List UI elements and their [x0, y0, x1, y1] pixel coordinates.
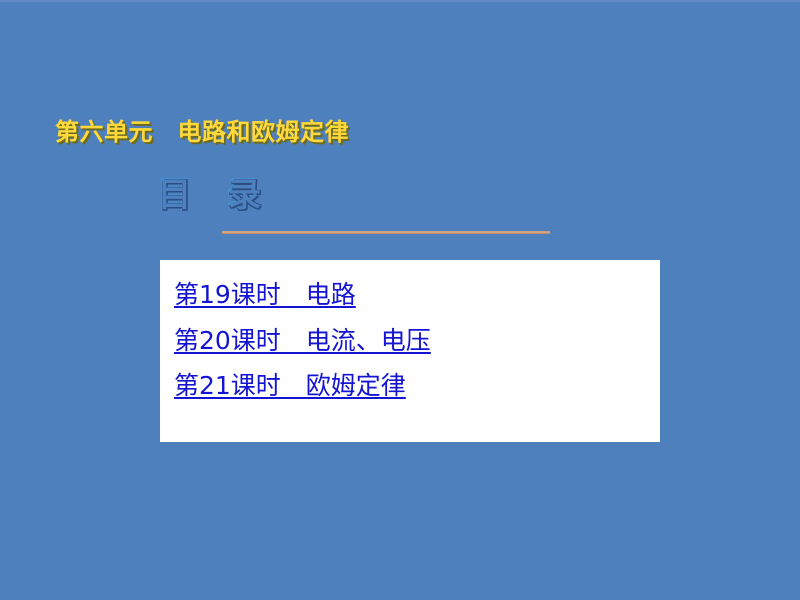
- table-of-contents-panel: 第19课时 电路 第20课时 电流、电压 第21课时 欧姆定律: [160, 260, 660, 442]
- heading-divider-rule: [222, 231, 550, 234]
- list-item: 第19课时 电路: [174, 282, 660, 309]
- table-of-contents-list: 第19课时 电路 第20课时 电流、电压 第21课时 欧姆定律: [174, 282, 660, 400]
- table-of-contents-heading: 目 录: [158, 168, 263, 216]
- list-item: 第20课时 电流、电压: [174, 328, 660, 355]
- presentation-slide: 第六单元 电路和欧姆定律 目 录 第19课时 电路 第20课时 电流、电压 第2…: [0, 0, 800, 600]
- list-item: 第21课时 欧姆定律: [174, 373, 660, 400]
- toc-link-lesson-19[interactable]: 第19课时 电路: [174, 282, 356, 309]
- unit-title: 第六单元 电路和欧姆定律: [55, 112, 349, 147]
- toc-link-lesson-20[interactable]: 第20课时 电流、电压: [174, 328, 431, 355]
- toc-link-lesson-21[interactable]: 第21课时 欧姆定律: [174, 373, 406, 400]
- slide-top-edge-highlight: [0, 0, 800, 2]
